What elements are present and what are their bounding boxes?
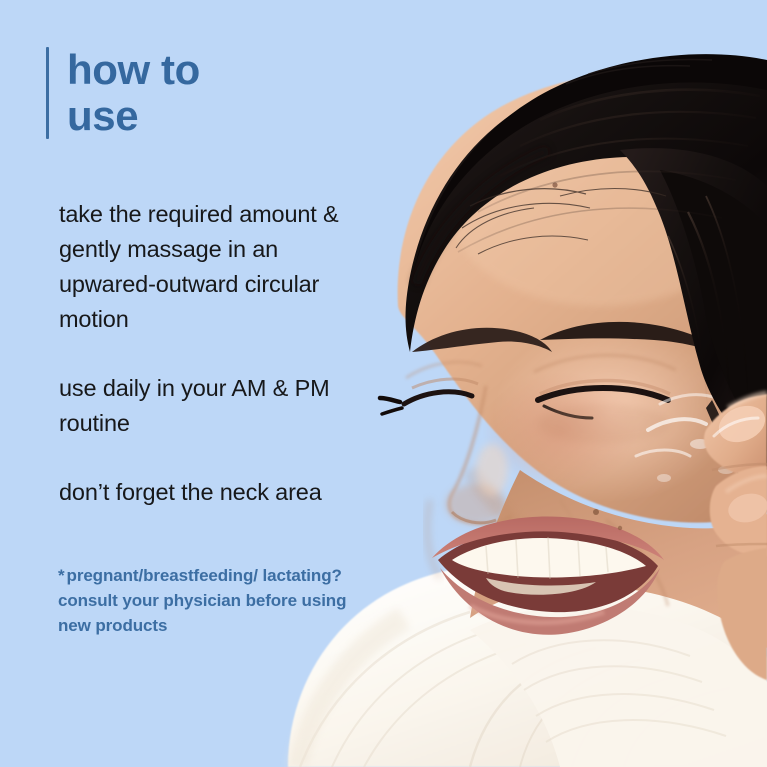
instructions-panel: how to use take the required amount & ge… bbox=[0, 0, 380, 767]
page-title-block: how to use bbox=[46, 47, 200, 139]
instruction-step-1: take the required amount & gently massag… bbox=[59, 197, 359, 337]
instruction-step-2: use daily in your AM & PM routine bbox=[59, 371, 359, 441]
page-title: how to use bbox=[49, 47, 200, 139]
footnote-asterisk: * bbox=[58, 566, 65, 585]
how-to-use-card: how to use take the required amount & ge… bbox=[0, 0, 767, 767]
footnote-disclaimer: *pregnant/breastfeeding/ lactating? cons… bbox=[58, 563, 348, 638]
instruction-step-3: don’t forget the neck area bbox=[59, 475, 359, 510]
footnote-text: pregnant/breastfeeding/ lactating? consu… bbox=[58, 566, 346, 635]
instruction-list: take the required amount & gently massag… bbox=[59, 197, 359, 510]
